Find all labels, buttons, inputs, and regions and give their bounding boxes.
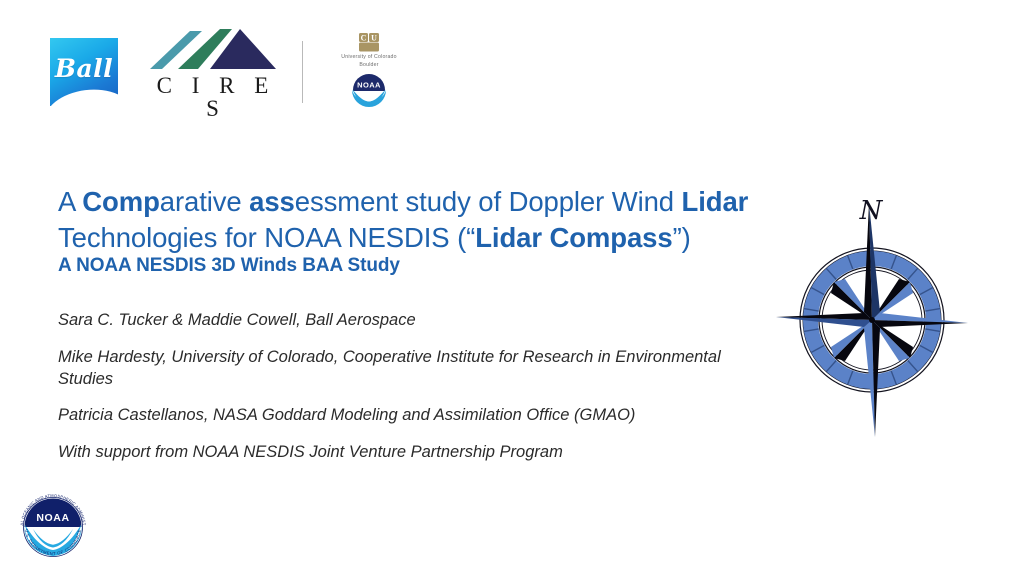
cires-mountains-icon: [144, 25, 282, 71]
noaa-logo: NOAA: [347, 72, 391, 112]
title-seg-3: arative: [160, 186, 249, 217]
compass-north-label: N: [772, 196, 970, 226]
logo-divider: [302, 41, 303, 103]
noaa-seal-wordmark: NOAA: [36, 512, 69, 524]
cu-boulder-line1: University of Colorado: [321, 54, 417, 62]
title-seg-1: A: [58, 186, 82, 217]
ball-logo-wordmark: Ball: [50, 54, 118, 83]
title-seg-8-bold: Lidar Compass: [475, 222, 672, 253]
cu-boulder-block: C U University of Colorado Boulder NOAA: [321, 32, 417, 113]
compass-rose: N: [772, 196, 972, 444]
title-seg-7: Technologies for NOAA NESDIS (“: [58, 222, 475, 253]
ball-logo-swoosh: [50, 84, 118, 106]
svg-text:C: C: [361, 33, 367, 42]
author-line: With support from NOAA NESDIS Joint Vent…: [58, 442, 758, 464]
author-line: Mike Hardesty, University of Colorado, C…: [58, 347, 758, 391]
noaa-seal: NOAA NATIONAL OCEANIC AND ATMOSPHERIC AD…: [14, 488, 92, 566]
cu-mark-icon: C U: [358, 32, 380, 52]
title-seg-6-bold: Lidar: [682, 186, 749, 217]
logo-bar: Ball C I R E S C U Universi: [50, 34, 417, 110]
cu-boulder-line2: Boulder: [321, 62, 417, 70]
slide-subtitle: A NOAA NESDIS 3D Winds BAA Study: [58, 255, 400, 277]
title-seg-5: essment study of Doppler Wind: [295, 186, 682, 217]
cires-logo: C I R E S: [144, 25, 282, 120]
title-seg-4-bold: ass: [249, 186, 295, 217]
author-line: Patricia Castellanos, NASA Goddard Model…: [58, 405, 758, 427]
svg-text:NOAA: NOAA: [357, 81, 381, 90]
title-slide: Ball C I R E S C U Universi: [0, 0, 1024, 576]
noaa-seal-icon: NOAA NATIONAL OCEANIC AND ATMOSPHERIC AD…: [14, 488, 92, 566]
cires-logo-wordmark: C I R E S: [144, 74, 282, 120]
compass-rose-icon: [772, 196, 972, 444]
ball-aerospace-logo: Ball: [50, 38, 118, 106]
author-list: Sara C. Tucker & Maddie Cowell, Ball Aer…: [58, 310, 758, 479]
author-line: Sara C. Tucker & Maddie Cowell, Ball Aer…: [58, 310, 758, 332]
slide-title: A Comparative assessment study of Dopple…: [58, 184, 838, 257]
title-seg-2-bold: Comp: [82, 186, 160, 217]
title-seg-9: ”): [673, 222, 691, 253]
svg-text:U: U: [371, 33, 377, 42]
